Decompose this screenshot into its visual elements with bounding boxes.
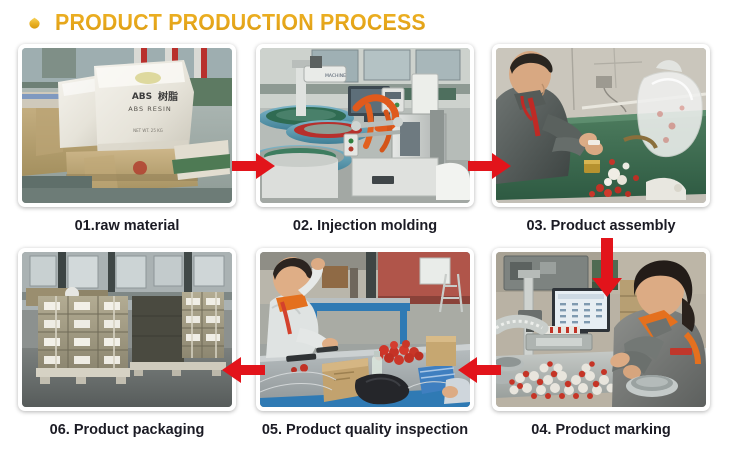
svg-text:ABS RESIN: ABS RESIN <box>128 105 172 113</box>
process-step-03[interactable]: 03. Product assembly <box>492 44 710 234</box>
process-step-06[interactable]: 06. Product packaging <box>18 248 236 438</box>
arrow-step5-to-step6 <box>222 354 266 386</box>
process-step-05[interactable]: 05. Product quality inspection <box>256 248 474 438</box>
svg-text:树脂: 树脂 <box>158 90 178 103</box>
process-step-02[interactable]: MACHINE <box>256 44 474 234</box>
photo-product-packaging <box>22 252 232 407</box>
step-caption-03: 03. Product assembly <box>492 218 710 234</box>
arrow-step2-to-step3 <box>468 150 512 182</box>
photo-quality-inspection <box>260 252 470 407</box>
svg-text:NET WT. 25 KG: NET WT. 25 KG <box>133 128 163 133</box>
photo-frame-01: ABS 树脂 ABS RESIN NET WT. 25 KG <box>18 44 236 207</box>
photo-frame-05 <box>256 248 474 411</box>
photo-injection-molding: MACHINE <box>260 48 470 203</box>
svg-text:MACHINE: MACHINE <box>325 73 346 79</box>
photo-raw-material: ABS 树脂 ABS RESIN NET WT. 25 KG <box>22 48 232 203</box>
process-step-01[interactable]: ABS 树脂 ABS RESIN NET WT. 25 KG 01.r <box>18 44 236 234</box>
arrow-step1-to-step2 <box>232 150 276 182</box>
process-grid: ABS 树脂 ABS RESIN NET WT. 25 KG 01.r <box>0 40 730 460</box>
photo-product-assembly <box>496 48 706 203</box>
photo-frame-02: MACHINE <box>256 44 474 207</box>
arrow-step4-to-step5 <box>458 354 502 386</box>
photo-frame-03 <box>492 44 710 207</box>
svg-text:ABS: ABS <box>132 92 152 102</box>
photo-frame-06 <box>18 248 236 411</box>
step-caption-02: 02. Injection molding <box>256 218 474 234</box>
arrow-step3-to-step4 <box>592 238 624 298</box>
diamond-bullet-icon <box>28 17 41 30</box>
step-caption-06: 06. Product packaging <box>18 422 236 438</box>
step-caption-01: 01.raw material <box>18 218 236 234</box>
page-header: PRODUCT PRODUCTION PROCESS <box>0 0 730 44</box>
step-caption-05: 05. Product quality inspection <box>256 422 474 438</box>
page-title: PRODUCT PRODUCTION PROCESS <box>55 9 426 36</box>
step-caption-04: 04. Product marking <box>492 422 710 438</box>
